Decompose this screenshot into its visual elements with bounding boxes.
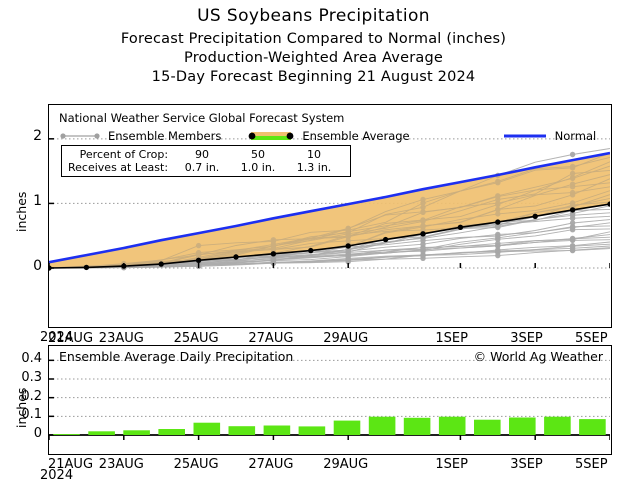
bottom-xtick-23aug: 23AUG [99, 457, 144, 472]
bottom-ytick-0-3: 0.3 [12, 370, 42, 385]
bottom-chart-panel: Ensemble Average Daily Precipitation © W… [48, 345, 612, 455]
copyright-notice: © World Ag Weather [474, 349, 603, 364]
bottom-ytick-0-1: 0.1 [12, 407, 42, 422]
ensemble-average-swatch-icon [247, 130, 295, 142]
title-block: US Soybeans Precipitation Forecast Preci… [0, 0, 627, 85]
chart-legend: National Weather Service Global Forecast… [59, 111, 622, 143]
stat-label-percent: Percent of Crop: [66, 148, 176, 161]
stat-col-2: 10 [288, 148, 344, 161]
main-ytick-2: 2 [16, 128, 42, 144]
stat-row-percent: Percent of Crop: 90 50 10 [66, 148, 344, 161]
percent-of-crop-box: Percent of Crop: 90 50 10 Receives at Le… [61, 145, 351, 177]
stat-col-0: 90 [176, 148, 232, 161]
subtitle-2: Production-Weighted Area Average [0, 50, 627, 66]
bottom-xtick-1sep: 1SEP [435, 457, 468, 472]
stat-val-2: 1.3 in. [288, 161, 344, 174]
bottom-ytick-0-2: 0.2 [12, 389, 42, 404]
bottom-ytick-0-4: 0.4 [12, 351, 42, 366]
main-ytick-0: 0 [16, 258, 42, 274]
main-chart-panel: National Weather Service Global Forecast… [48, 104, 612, 328]
legend-label-normal: Normal [555, 129, 597, 143]
bottom-xtick-27aug: 27AUG [248, 457, 293, 472]
bottom-axis-year: 2024 [40, 468, 73, 483]
page-title: US Soybeans Precipitation [0, 6, 627, 26]
bottom-panel-caption: Ensemble Average Daily Precipitation [59, 349, 293, 364]
normal-swatch-icon [502, 131, 548, 141]
main-xtick-25aug: 25AUG [174, 331, 219, 346]
main-ytick-1: 1 [16, 193, 42, 209]
legend-label-ensemble-average: Ensemble Average [302, 129, 409, 143]
stat-col-1: 50 [232, 148, 288, 161]
main-xtick-3sep: 3SEP [510, 331, 543, 346]
bottom-xtick-29aug: 29AUG [323, 457, 368, 472]
bottom-xtick-3sep: 3SEP [510, 457, 543, 472]
legend-item-ensemble-members: Ensemble Members [59, 129, 221, 143]
legend-item-ensemble-average: Ensemble Average [247, 129, 409, 143]
legend-source: National Weather Service Global Forecast… [59, 111, 622, 125]
main-xtick-27aug: 27AUG [248, 331, 293, 346]
main-xtick-23aug: 23AUG [99, 331, 144, 346]
stat-label-receives: Receives at Least: [66, 161, 176, 174]
stat-row-receives: Receives at Least: 0.7 in. 1.0 in. 1.3 i… [66, 161, 344, 174]
legend-item-normal: Normal [502, 129, 597, 143]
stat-val-1: 1.0 in. [232, 161, 288, 174]
stat-val-0: 0.7 in. [176, 161, 232, 174]
legend-label-ensemble-members: Ensemble Members [108, 129, 221, 143]
bottom-xtick-25aug: 25AUG [174, 457, 219, 472]
subtitle-3: 15-Day Forecast Beginning 21 August 2024 [0, 69, 627, 85]
main-xtick-5sep: 5SEP [575, 331, 608, 346]
main-xtick-1sep: 1SEP [435, 331, 468, 346]
bottom-xtick-5sep: 5SEP [575, 457, 608, 472]
main-axis-year: 2024 [40, 330, 73, 345]
chart-page: US Soybeans Precipitation Forecast Preci… [0, 0, 627, 483]
subtitle-1: Forecast Precipitation Compared to Norma… [0, 31, 627, 47]
bottom-ytick-0: 0 [12, 426, 42, 441]
ensemble-members-swatch-icon [59, 131, 101, 141]
main-xtick-29aug: 29AUG [323, 331, 368, 346]
